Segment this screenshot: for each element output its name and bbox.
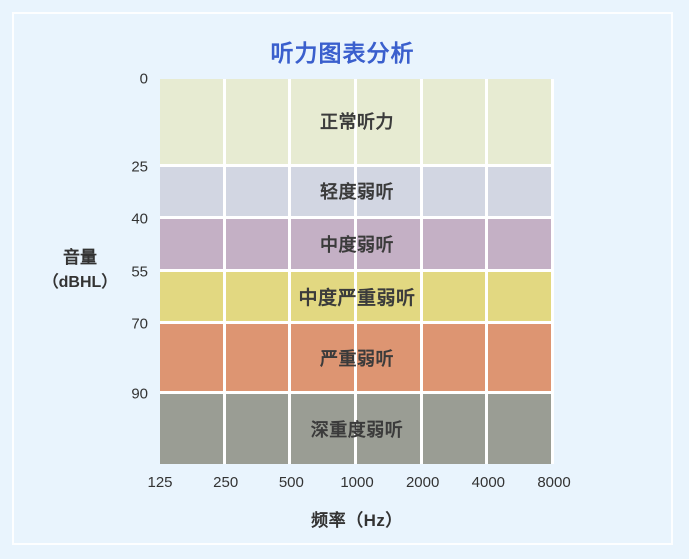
audiogram-band-cell	[488, 394, 554, 464]
x-axis-tick: 2000	[406, 474, 439, 491]
audiogram-band-cell	[488, 219, 554, 269]
audiogram-band-cell	[160, 272, 226, 322]
audiogram-band: 严重弱听	[160, 324, 554, 394]
audiogram-band-cell	[423, 79, 489, 164]
audiogram-band-cell	[291, 324, 357, 391]
audiogram-band-cell	[357, 79, 423, 164]
audiogram-band-cell	[357, 219, 423, 269]
x-axis-tick: 250	[213, 474, 238, 491]
page-title: 听力图表分析	[14, 34, 671, 68]
audiogram-band-cell	[226, 219, 292, 269]
x-axis-tick: 1000	[340, 474, 373, 491]
x-axis-tick: 8000	[537, 474, 570, 491]
audiogram-band-cell	[291, 272, 357, 322]
audiogram-band-cell	[488, 324, 554, 391]
audiogram-plot-area: 正常听力轻度弱听中度弱听中度严重弱听严重弱听深重度弱听 02540557090 …	[160, 79, 554, 464]
audiogram-band: 轻度弱听	[160, 167, 554, 220]
audiogram-band-cell	[291, 219, 357, 269]
audiogram-band-cell	[423, 324, 489, 391]
chart-card: 听力图表分析 音量 （dBHL） 正常听力轻度弱听中度弱听中度严重弱听严重弱听深…	[12, 12, 673, 545]
audiogram-band-cell	[423, 167, 489, 217]
audiogram-band: 正常听力	[160, 79, 554, 167]
audiogram-band-cell	[423, 272, 489, 322]
audiogram-band-cell	[226, 324, 292, 391]
audiogram-band-cell	[226, 167, 292, 217]
audiogram-band: 中度弱听	[160, 219, 554, 272]
audiogram-band-cell	[488, 272, 554, 322]
audiogram-band-cell	[291, 394, 357, 464]
audiogram-band-cell	[357, 394, 423, 464]
audiogram-band-cell	[291, 79, 357, 164]
y-axis-tick: 70	[131, 316, 148, 333]
audiogram-band-cell	[423, 219, 489, 269]
audiogram-band-cell	[357, 324, 423, 391]
y-axis-title-line-1: 音量	[22, 246, 138, 271]
audiogram-band-cell	[160, 167, 226, 217]
audiogram-band-cell	[423, 394, 489, 464]
x-axis-tick: 4000	[472, 474, 505, 491]
x-axis-title: 频率（Hz）	[160, 506, 554, 531]
audiogram-band-cell	[357, 272, 423, 322]
x-axis-tick: 125	[147, 474, 172, 491]
x-axis-tick: 500	[279, 474, 304, 491]
y-axis-title: 音量 （dBHL）	[22, 246, 138, 294]
y-axis-tick: 40	[131, 211, 148, 228]
audiogram-band-cell	[226, 394, 292, 464]
audiogram-band: 深重度弱听	[160, 394, 554, 464]
audiogram-band-cell	[488, 79, 554, 164]
audiogram-band-cell	[291, 167, 357, 217]
audiogram-band-cell	[226, 272, 292, 322]
audiogram-band-cell	[357, 167, 423, 217]
audiogram-band-cell	[160, 79, 226, 164]
audiogram-band-cell	[160, 324, 226, 391]
y-axis-tick: 0	[140, 71, 148, 88]
audiogram-band-cell	[488, 167, 554, 217]
audiogram-band: 中度严重弱听	[160, 272, 554, 325]
audiogram-band-cell	[160, 394, 226, 464]
y-axis-title-line-2: （dBHL）	[22, 271, 138, 294]
y-axis-tick: 25	[131, 158, 148, 175]
y-axis-tick: 55	[131, 263, 148, 280]
y-axis-tick: 90	[131, 386, 148, 403]
audiogram-band-stack: 正常听力轻度弱听中度弱听中度严重弱听严重弱听深重度弱听	[160, 79, 554, 464]
audiogram-band-cell	[160, 219, 226, 269]
audiogram-band-cell	[226, 79, 292, 164]
